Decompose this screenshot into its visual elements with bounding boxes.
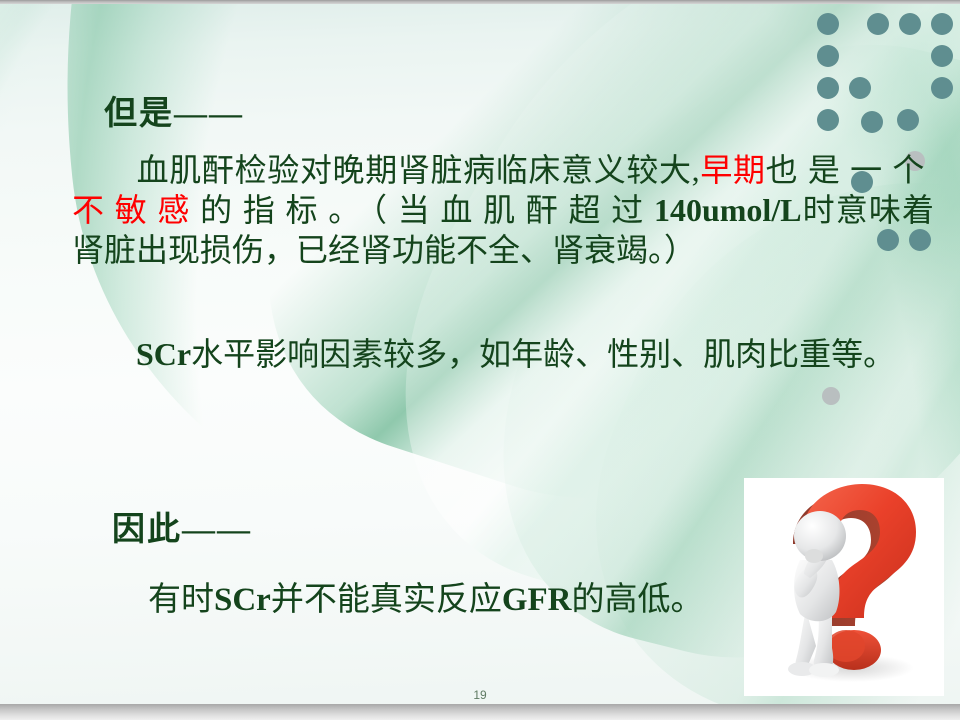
para-scr-body: 水平影响因素较多，如年龄、性别、肌肉比重等。 — [191, 336, 895, 372]
presentation-slide: 但是—— 血肌酐检验对晚期肾脏病临床意义较大,早期也是一个不敏感的指标。（当血肌… — [0, 0, 960, 720]
stmt-gfr-label: GFR — [502, 582, 572, 618]
paragraph-scr-factors: SCr水平影响因素较多，如年龄、性别、肌肉比重等。 — [72, 334, 934, 374]
stmt-seg5: 的高低。 — [572, 582, 704, 618]
para-main-seg1: 血肌酐检验对晚期肾脏病临床意义较大, — [136, 152, 700, 188]
para-main-seg5: 的指标。（当血肌酐超过 — [200, 192, 654, 228]
question-mark-icon — [744, 478, 944, 696]
conclusion-statement: 有时SCr并不能真实反应GFR的高低。 — [148, 572, 704, 620]
lead-in-but: 但是—— — [104, 86, 244, 134]
stmt-scr-label: SCr — [214, 582, 271, 618]
stmt-seg1: 有时 — [148, 582, 214, 618]
para-main-value-140umol: 140umol/L — [654, 192, 802, 228]
para-main-highlight-early: 早期 — [700, 152, 766, 188]
question-mark-3d-figure-image — [744, 478, 944, 696]
lead-in-therefore: 因此—— — [112, 502, 252, 550]
top-edge-bar — [0, 0, 960, 4]
para-main-highlight-insensitive: 不敏感 — [72, 192, 200, 228]
paragraph-serum-creatinine: 血肌酐检验对晚期肾脏病临床意义较大,早期也是一个不敏感的指标。（当血肌酐超过14… — [72, 150, 934, 270]
stmt-seg3: 并不能真实反应 — [271, 582, 502, 618]
para-scr-label: SCr — [136, 336, 191, 372]
slide-page-number: 19 — [0, 688, 960, 702]
para-main-seg3: 也是一个 — [766, 152, 934, 188]
bottom-edge-bar — [0, 704, 960, 720]
